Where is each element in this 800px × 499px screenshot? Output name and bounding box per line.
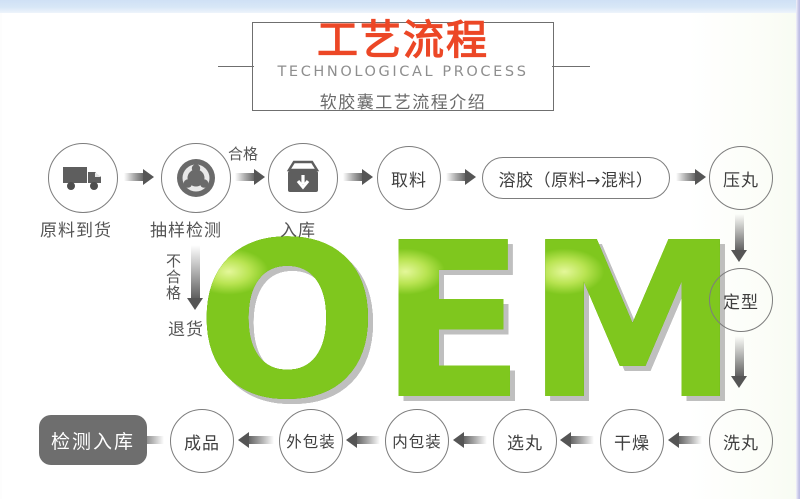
node-inner-pack[interactable]: 内包装 bbox=[385, 409, 449, 473]
arrow-outer-to-finished bbox=[238, 432, 274, 448]
node-label-drying: 干燥 bbox=[614, 429, 650, 454]
node-label-take-material: 取料 bbox=[391, 166, 427, 191]
node-drying[interactable]: 干燥 bbox=[600, 409, 664, 473]
sample-test-icon bbox=[176, 158, 216, 198]
page-title: 工艺流程 bbox=[238, 14, 568, 66]
node-label-sol-gel: 溶胶（原料→混料） bbox=[499, 166, 654, 191]
branch-label-fail: 不合格 bbox=[163, 253, 184, 301]
arrow-select-to-inner-pack bbox=[453, 432, 487, 448]
left-edge-border bbox=[0, 13, 2, 499]
node-warehouse-in[interactable] bbox=[268, 143, 338, 213]
node-sampling-test[interactable] bbox=[161, 143, 231, 213]
arrow-take-to-solgel bbox=[446, 169, 476, 185]
arrow-sampling-to-warehouse bbox=[235, 169, 265, 185]
arrow-shaping-to-wash bbox=[731, 336, 748, 388]
page-subtitle-en: TECHNOLOGICAL PROCESS bbox=[238, 64, 568, 80]
process-flow-infographic: 工艺流程 TECHNOLOGICAL PROCESS 软胶囊工艺流程介绍 O E… bbox=[0, 0, 800, 499]
arrow-inner-to-outer-pack bbox=[346, 432, 380, 448]
right-edge-border bbox=[796, 0, 800, 499]
node-label-select-pill: 选丸 bbox=[507, 429, 543, 454]
node-label-final-inspect-store: 检测入库 bbox=[51, 427, 135, 454]
truck-icon bbox=[62, 164, 104, 192]
node-label-shaping: 定型 bbox=[723, 288, 759, 313]
top-blue-strip bbox=[0, 0, 800, 13]
arrow-raw-to-sampling bbox=[124, 169, 154, 185]
arrow-solgel-to-press bbox=[676, 169, 706, 185]
node-label-wash-pill: 洗丸 bbox=[723, 429, 759, 454]
caption-sampling-test: 抽样检测 bbox=[150, 216, 222, 241]
node-shaping[interactable]: 定型 bbox=[709, 268, 773, 332]
node-outer-pack[interactable]: 外包装 bbox=[279, 409, 343, 473]
node-select-pill[interactable]: 选丸 bbox=[493, 409, 557, 473]
node-label-inner-pack: 内包装 bbox=[392, 430, 442, 452]
node-final-inspect-store[interactable]: 检测入库 bbox=[39, 415, 147, 465]
arrow-fail-to-return bbox=[187, 245, 204, 310]
node-label-outer-pack: 外包装 bbox=[286, 430, 336, 452]
arrow-warehouse-to-take bbox=[343, 169, 373, 185]
page-subtitle-cn: 软胶囊工艺流程介绍 bbox=[238, 88, 568, 113]
node-finished[interactable]: 成品 bbox=[170, 409, 234, 473]
branch-label-return: 退货 bbox=[168, 315, 204, 340]
caption-raw-arrival: 原料到货 bbox=[40, 216, 112, 241]
arrow-wash-to-drying bbox=[668, 432, 702, 448]
title-block: 工艺流程 TECHNOLOGICAL PROCESS 软胶囊工艺流程介绍 bbox=[238, 22, 568, 112]
caption-warehouse-in: 入库 bbox=[280, 216, 316, 241]
arrow-label-pass: 合格 bbox=[228, 143, 258, 164]
node-take-material[interactable]: 取料 bbox=[377, 146, 441, 210]
node-press-pill[interactable]: 压丸 bbox=[709, 146, 773, 210]
node-wash-pill[interactable]: 洗丸 bbox=[709, 409, 773, 473]
node-label-press-pill: 压丸 bbox=[723, 166, 759, 191]
arrow-drying-to-select bbox=[560, 432, 594, 448]
inbox-arrow-down-icon bbox=[284, 160, 322, 196]
node-sol-gel[interactable]: 溶胶（原料→混料） bbox=[482, 157, 670, 199]
node-label-finished: 成品 bbox=[184, 429, 220, 454]
node-raw-arrival[interactable] bbox=[48, 143, 118, 213]
arrow-press-to-shaping bbox=[731, 214, 748, 262]
